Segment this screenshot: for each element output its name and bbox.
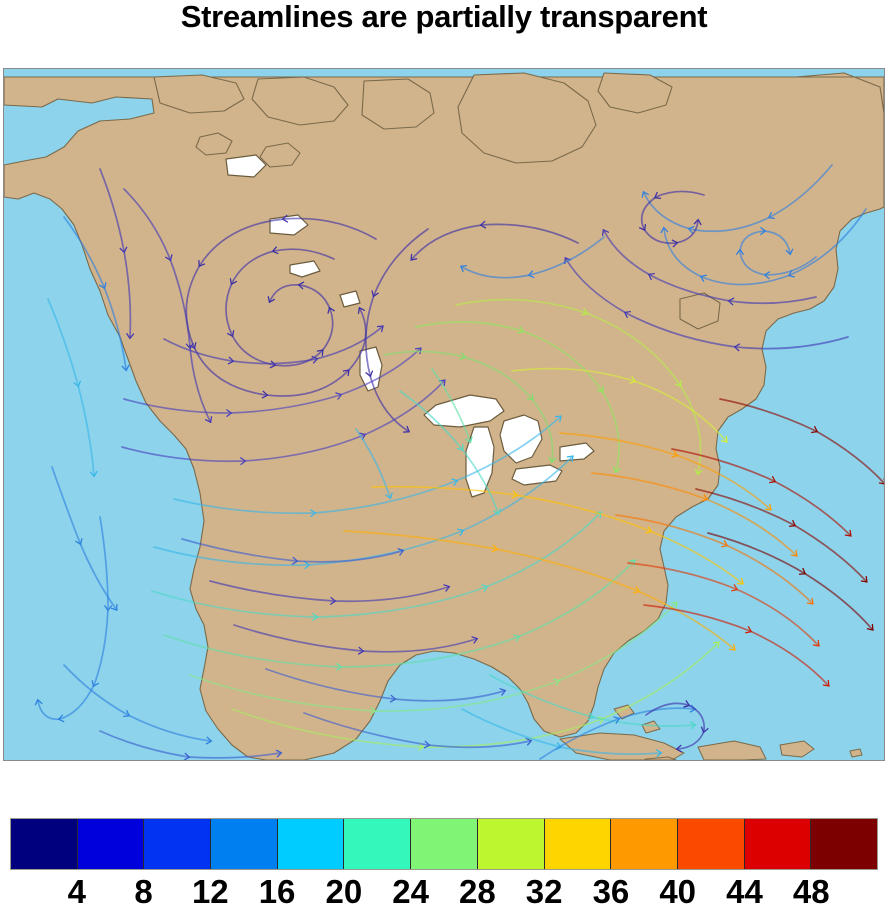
colorbar-tick-label: 16 — [259, 872, 296, 912]
colorbar-tick-label: 40 — [659, 872, 696, 912]
colorbar-tick-label: 44 — [726, 872, 763, 912]
colorbar-swatch — [344, 819, 411, 869]
colorbar[interactable] — [10, 818, 878, 870]
colorbar-swatch — [411, 819, 478, 869]
colorbar-swatch — [11, 819, 78, 869]
colorbar-swatch — [611, 819, 678, 869]
colorbar-tick-label: 36 — [593, 872, 630, 912]
colorbar-swatch — [678, 819, 745, 869]
colorbar-tick-label: 8 — [134, 872, 152, 912]
colorbar-swatch — [811, 819, 877, 869]
colorbar-tick-label: 20 — [325, 872, 362, 912]
colorbar-tick-label: 28 — [459, 872, 496, 912]
colorbar-swatch — [211, 819, 278, 869]
colorbar-swatch — [144, 819, 211, 869]
colorbar-tick-label: 4 — [68, 872, 86, 912]
island-bermuda — [850, 749, 862, 757]
colorbar-labels: 4812162024283236404448 — [10, 872, 878, 916]
map-canvas — [4, 69, 884, 760]
page-title: Streamlines are partially transparent — [0, 0, 888, 35]
colorbar-swatch — [478, 819, 545, 869]
map-plot-area — [3, 68, 885, 761]
colorbar-swatch — [78, 819, 145, 869]
colorbar-tick-label: 24 — [392, 872, 429, 912]
colorbar-swatch — [745, 819, 812, 869]
colorbar-tick-label: 48 — [793, 872, 830, 912]
colorbar-tick-label: 12 — [192, 872, 229, 912]
colorbar-swatch — [545, 819, 612, 869]
colorbar-tick-label: 32 — [526, 872, 563, 912]
colorbar-swatch — [278, 819, 345, 869]
